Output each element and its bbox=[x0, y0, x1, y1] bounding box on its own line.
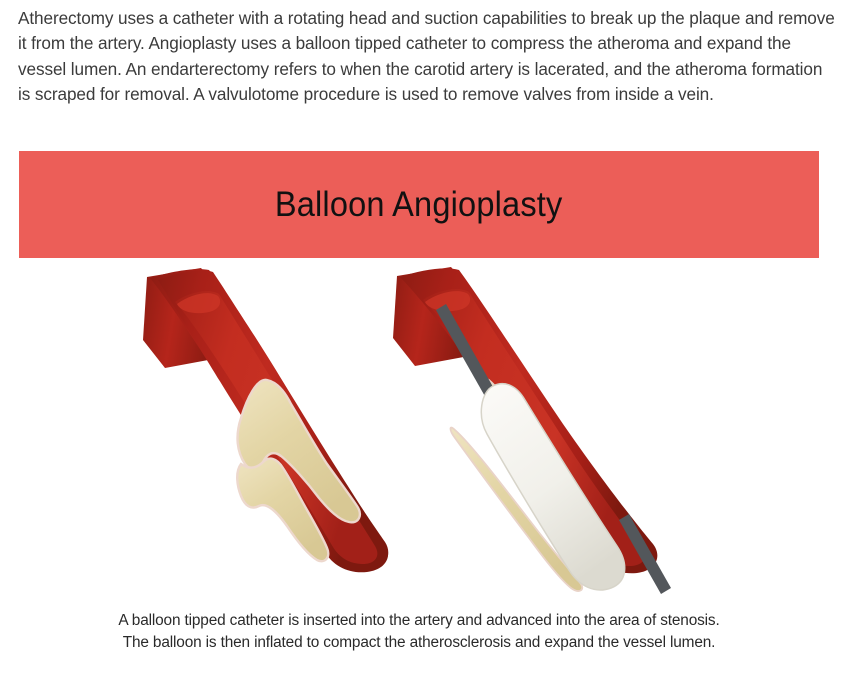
figure-caption-line-2: The balloon is then inflated to compact … bbox=[19, 632, 819, 654]
balloon-angioplasty-figure: Balloon Angioplasty bbox=[19, 151, 819, 654]
figure-caption-line-1: A balloon tipped catheter is inserted in… bbox=[19, 610, 819, 632]
article-body: Atherectomy uses a catheter with a rotat… bbox=[18, 6, 836, 108]
right-artery-group: BALLOON bbox=[393, 267, 671, 610]
figure-caption: A balloon tipped catheter is inserted in… bbox=[19, 610, 819, 654]
left-artery-group bbox=[143, 268, 388, 572]
intro-paragraph: Atherectomy uses a catheter with a rotat… bbox=[18, 6, 836, 108]
artery-illustration-svg: BALLOON bbox=[19, 258, 819, 610]
figure-title: Balloon Angioplasty bbox=[275, 185, 563, 225]
figure-title-banner: Balloon Angioplasty bbox=[19, 151, 819, 258]
figure-illustration: BALLOON bbox=[19, 258, 819, 610]
